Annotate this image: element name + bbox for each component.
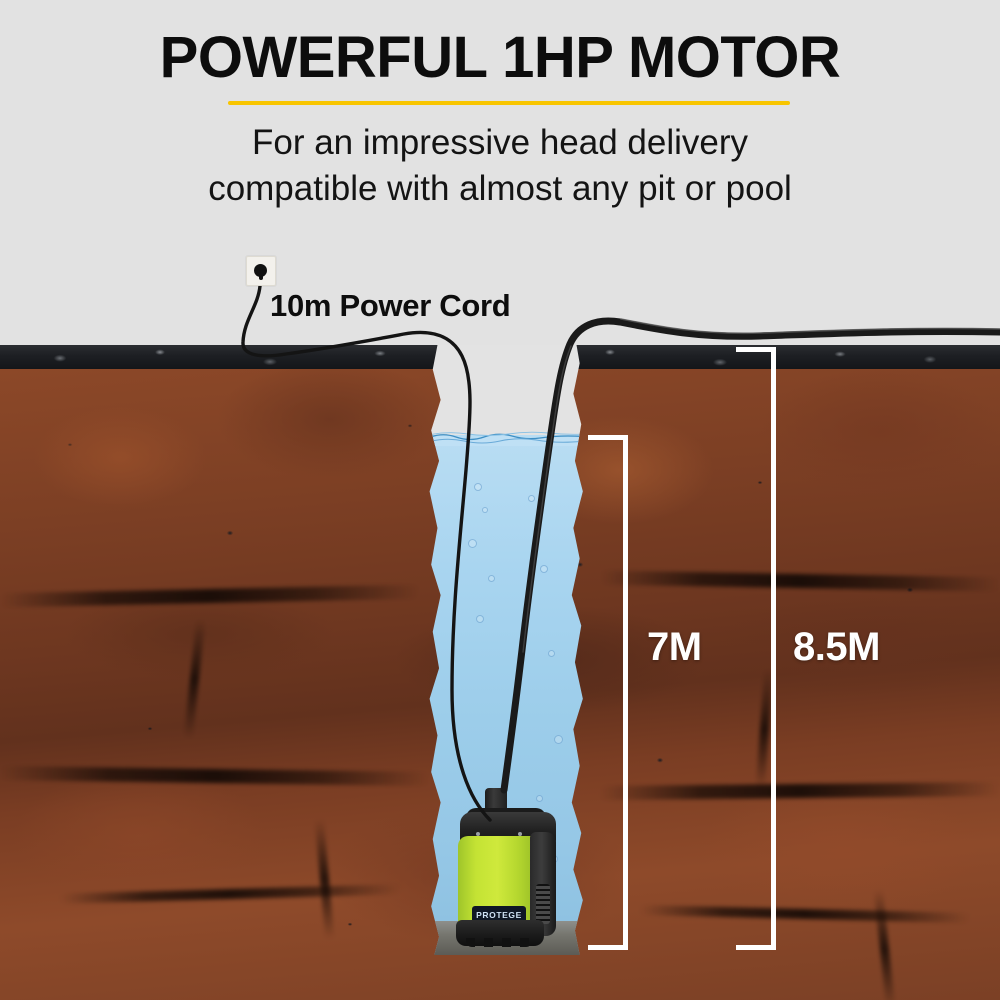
subtitle-line-2: compatible with almost any pit or pool (0, 166, 1000, 212)
power-cord-label: 10m Power Cord (270, 288, 510, 324)
soil-crack (0, 766, 430, 786)
power-outlet-icon (246, 256, 276, 286)
measurement-tick-bottom (588, 945, 628, 950)
submersible-pump: PROTEGE PUMPS (452, 788, 562, 948)
pit-air-gap (428, 345, 586, 437)
title-underline (228, 101, 790, 105)
measurement-label-8-5m: 8.5M (793, 625, 880, 670)
pump-vent-grille (536, 884, 550, 924)
water-bubble (482, 507, 488, 513)
soil-crack (315, 819, 334, 939)
product-feature-graphic: PROTEGE PUMPS 7M 8.5M POWERFUL 1HP MOTOR (0, 0, 1000, 1000)
water-bubble (548, 650, 555, 657)
measurement-label-7m: 7M (647, 625, 702, 670)
pump-intake-feet (466, 938, 532, 947)
measurement-tick-bottom (736, 945, 776, 950)
soil-crack (600, 782, 1000, 800)
soil-crack (640, 905, 970, 923)
measurement-8-5m: 8.5M (771, 347, 776, 950)
water-bubble (540, 565, 548, 573)
page-subtitle: For an impressive head delivery compatib… (0, 120, 1000, 212)
soil-crack (60, 884, 400, 903)
measurement-tick-top (588, 435, 628, 440)
measurement-line (623, 435, 628, 950)
measurement-7m: 7M (623, 435, 628, 950)
water-bubble (554, 735, 563, 744)
page-title: POWERFUL 1HP MOTOR (0, 28, 1000, 89)
soil-crack (600, 571, 1000, 592)
water-bubble (488, 575, 495, 582)
water-bubble (468, 539, 477, 548)
soil-crack (874, 889, 895, 1000)
measurement-tick-top (736, 347, 776, 352)
water-bubble (474, 483, 482, 491)
water-bubble (528, 495, 535, 502)
soil-crack (0, 585, 420, 608)
measurement-line (771, 347, 776, 950)
subtitle-line-1: For an impressive head delivery (0, 120, 1000, 166)
soil-crack (184, 619, 205, 739)
pump-body: PROTEGE PUMPS (458, 836, 540, 932)
water-bubble (476, 615, 484, 623)
water-surface-line (428, 430, 586, 446)
